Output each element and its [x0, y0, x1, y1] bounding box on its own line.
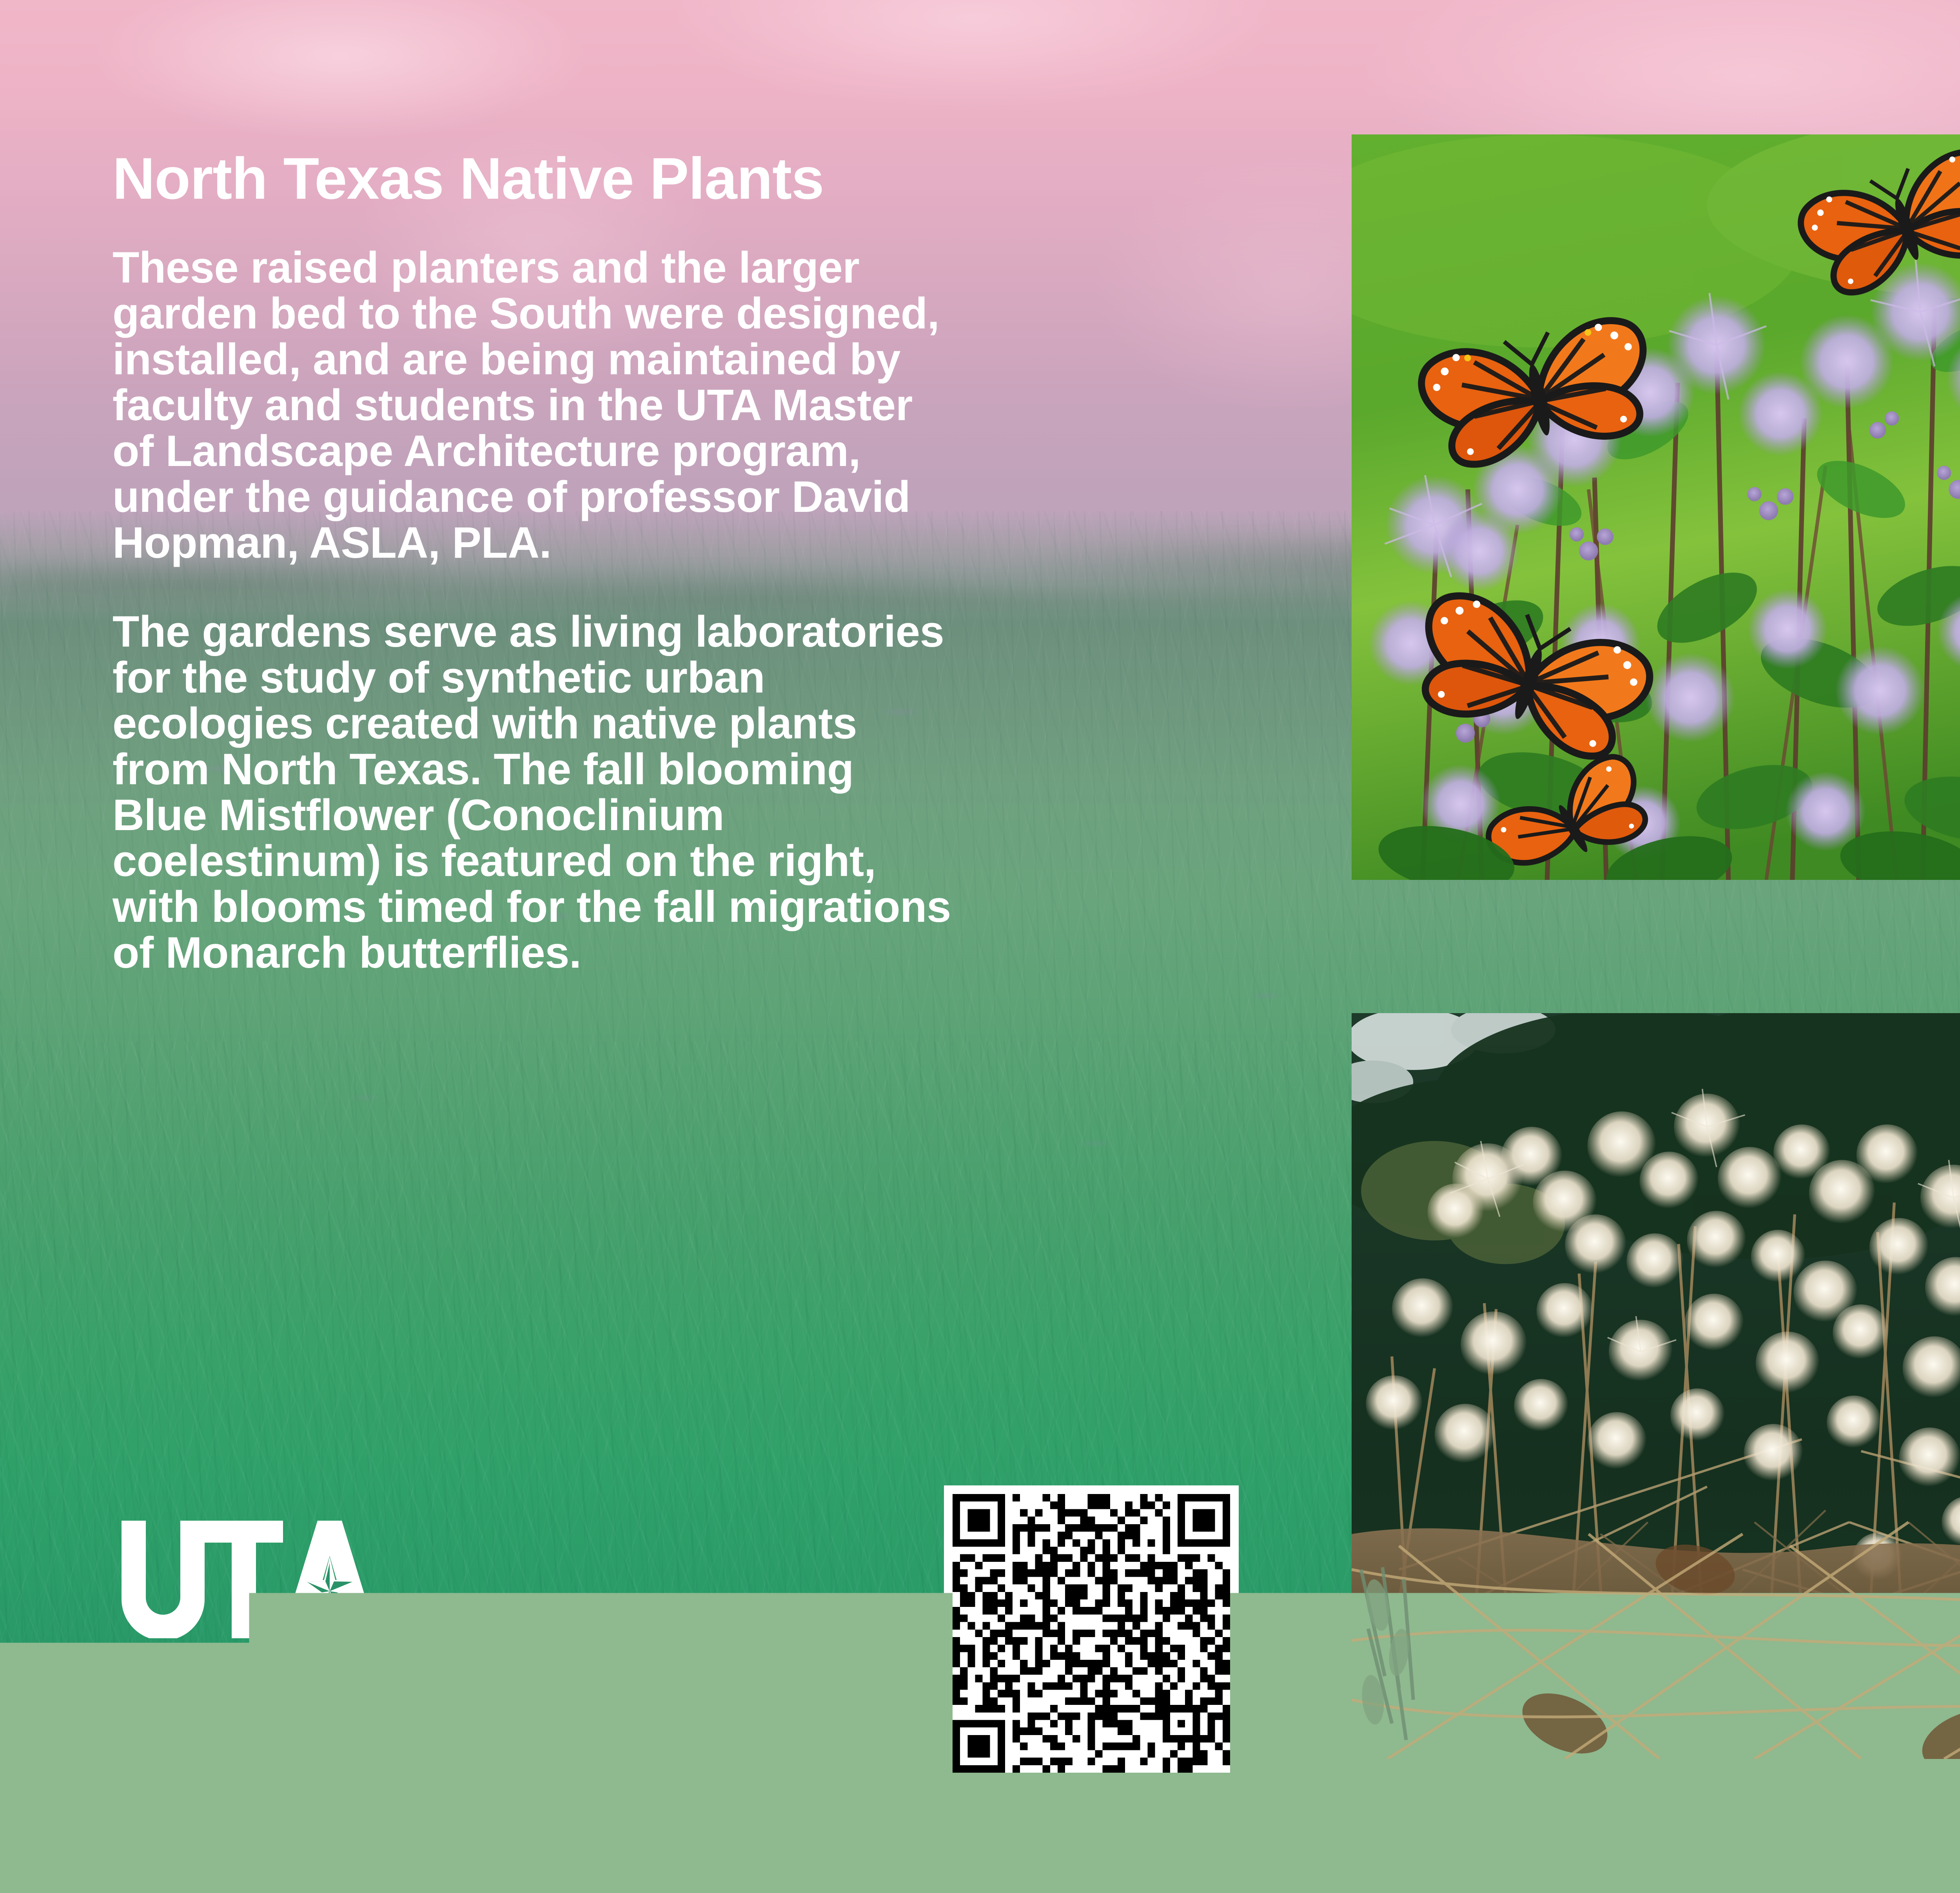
qr-code-canvas — [953, 1494, 1230, 1773]
college-name-line-1: College of Architecture, — [122, 1657, 788, 1701]
photo-butterflies — [1352, 134, 1960, 880]
poster-canvas: North Texas Native Plants These raised p… — [0, 0, 1960, 1893]
body-paragraph-2: The gardens serve as living laboratories… — [113, 609, 1304, 976]
photo-seedheads — [1352, 1013, 1960, 1759]
uta-logo — [122, 1521, 396, 1638]
text-column: North Texas Native Plants These raised p… — [113, 149, 1292, 976]
page-title: North Texas Native Plants — [113, 149, 1292, 208]
qr-code-icon[interactable] — [944, 1485, 1239, 1781]
brand-block: College of Architecture, Planning and Pu… — [122, 1521, 788, 1745]
college-name-line-2: Planning and Public Affairs — [122, 1701, 788, 1745]
body-paragraph-1: These raised planters and the larger gar… — [113, 245, 1292, 566]
